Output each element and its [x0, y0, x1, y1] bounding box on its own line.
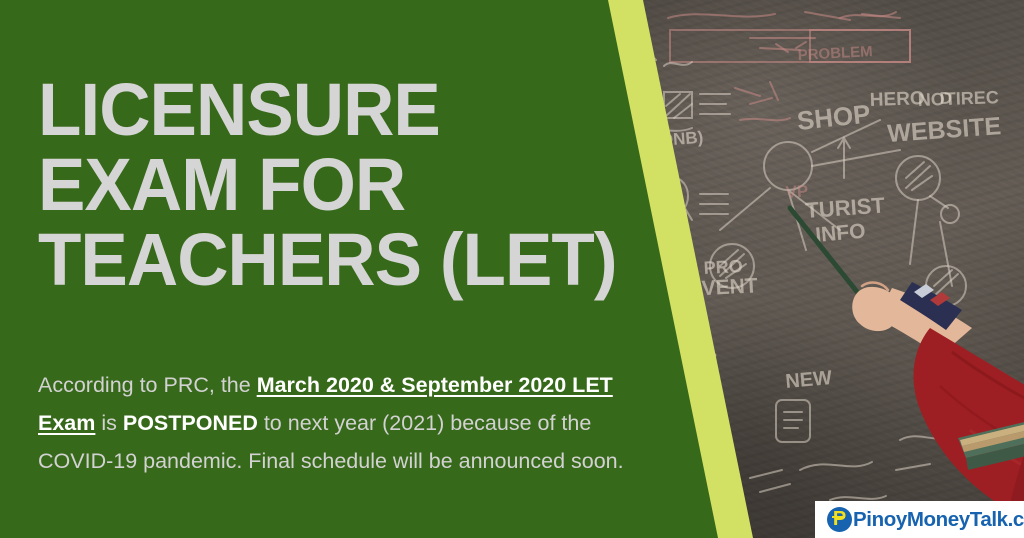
page-title: LICENSURE EXAM FOR TEACHERS (LET)	[38, 72, 633, 297]
site-logo[interactable]: P PinoyMoneyTalk.com	[815, 501, 1024, 538]
promo-banner: ONB EPT (LA ONB) SHOP HERO NOTIREC WEBSI…	[0, 0, 1024, 538]
announcement-text: According to PRC, the March 2020 & Septe…	[38, 366, 653, 480]
site-logo-text: PinoyMoneyTalk.com	[853, 508, 1024, 532]
announcement-lead: According to PRC, the	[38, 373, 257, 397]
svg-text:NOTIREC: NOTIREC	[917, 87, 999, 110]
svg-text:PROBLEM: PROBLEM	[797, 43, 873, 64]
svg-text:HOTEL: HOTEL	[635, 335, 718, 368]
announcement-mid: is	[95, 411, 122, 435]
svg-text:SHOP: SHOP	[795, 98, 871, 136]
svg-text:WEBSITE: WEBSITE	[886, 112, 1002, 148]
svg-text:PRO: PRO	[703, 256, 743, 278]
chalkboard-photo: ONB EPT (LA ONB) SHOP HERO NOTIREC WEBSI…	[600, 0, 1024, 538]
svg-text:NEW: NEW	[785, 367, 834, 393]
svg-text:INFO: INFO	[814, 220, 866, 247]
peso-glyph: P	[833, 509, 846, 529]
svg-text:D: D	[939, 88, 952, 108]
svg-text:ONB: ONB	[605, 28, 651, 53]
announcement-status: POSTPONED	[123, 411, 258, 435]
svg-text:VP: VP	[785, 181, 809, 202]
svg-text:B&B: B&B	[651, 370, 700, 397]
chalk-drawings: ONB EPT (LA ONB) SHOP HERO NOTIREC WEBSI…	[600, 0, 1024, 538]
svg-text:EVENT: EVENT	[687, 274, 758, 301]
svg-text:TURIST: TURIST	[805, 192, 887, 223]
svg-text:(LA ONB): (LA ONB)	[627, 128, 704, 152]
peso-circle-icon: P	[827, 507, 852, 532]
